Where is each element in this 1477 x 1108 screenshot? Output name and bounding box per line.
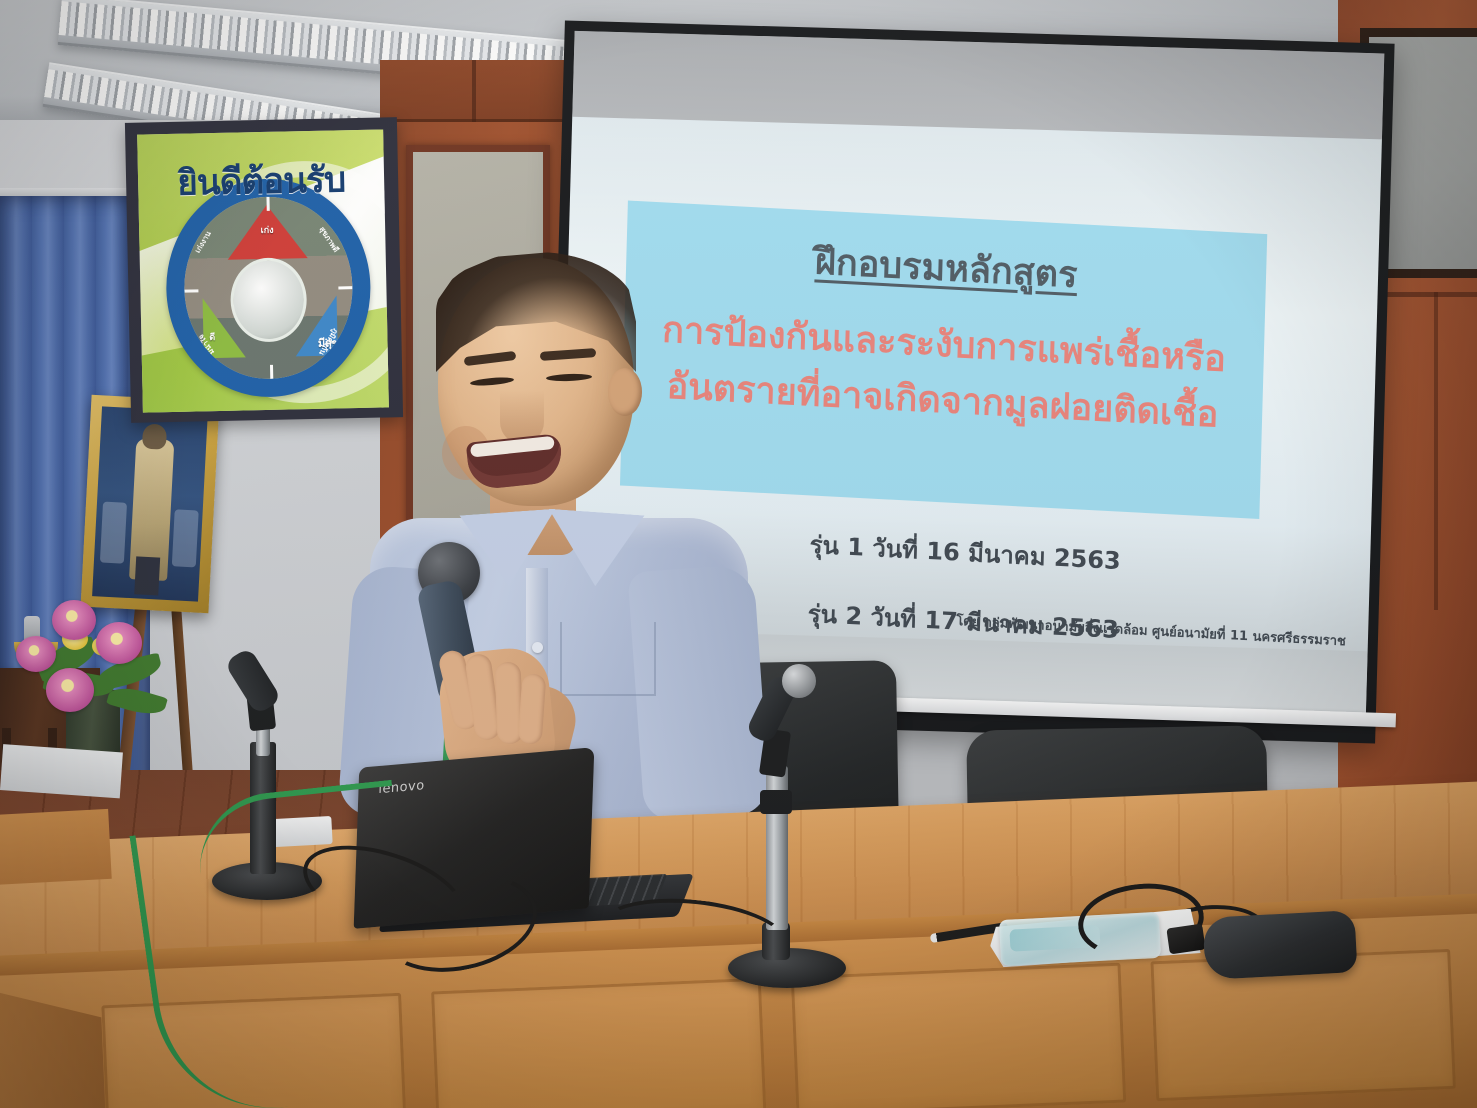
royal-portrait-frame [81, 395, 220, 613]
pink-flower [52, 600, 96, 640]
pink-flower [16, 636, 56, 672]
mic-grille-ball [782, 664, 816, 698]
mic-pole-clamp [760, 790, 792, 814]
pink-flower [46, 668, 94, 712]
finger [518, 673, 547, 745]
portrait-figure-legs [135, 557, 160, 596]
pink-flower [96, 622, 142, 664]
royal-portrait-image [92, 406, 208, 601]
speaker-ear [608, 368, 642, 416]
power-adapter-plug [1166, 924, 1205, 955]
portrait-figure-head [142, 424, 167, 450]
seminar-room-photo: ยินดีต้อนรับ เก่ง ดี มีสุข เก่งงาน สุขภา… [0, 0, 1477, 1108]
side-cabinet [0, 809, 112, 885]
shirt-pocket [560, 622, 656, 696]
logo-label-keng: เก่ง [260, 222, 273, 236]
black-pouch [1202, 910, 1357, 980]
baseboard [0, 744, 123, 798]
portrait-chair-right [172, 509, 198, 567]
wall-top-band [380, 60, 590, 122]
portrait-chair-left [100, 502, 126, 564]
banner-title: ยินดีต้อนรับ [138, 151, 385, 211]
